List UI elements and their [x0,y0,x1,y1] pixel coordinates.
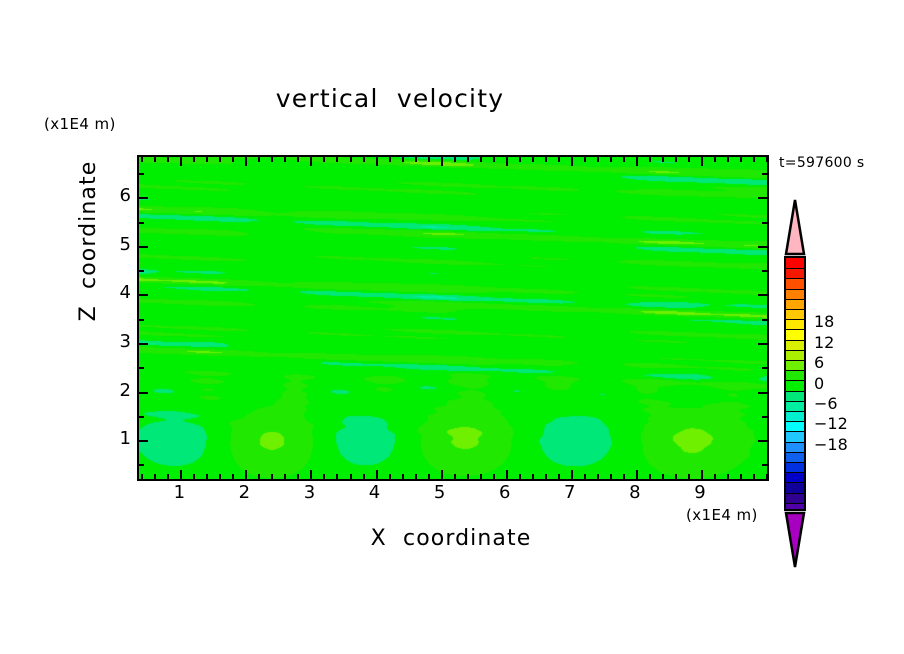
figure-canvas: vertical velocity (x1E4 m) (x1E4 m) X co… [0,0,904,654]
axis-tick [467,157,469,162]
x-tick-label: 2 [224,484,264,502]
x-axis-unit-label: (x1E4 m) [686,508,758,523]
axis-tick [441,157,443,166]
axis-tick [584,157,586,162]
axis-tick [649,157,651,162]
axis-tick [271,157,273,162]
axis-tick [139,246,148,248]
axis-tick [762,173,767,175]
axis-tick [519,157,521,162]
axis-tick [727,474,729,479]
axis-tick [310,470,312,479]
axis-tick [467,474,469,479]
x-tick-label: 1 [159,484,199,502]
y-tick-label: 5 [101,236,131,254]
axis-tick [753,474,755,479]
axis-tick [688,157,690,162]
y-axis-title: Z coordinate [78,136,100,346]
axis-tick [350,474,352,479]
axis-tick [493,474,495,479]
axis-tick [141,157,143,162]
axis-tick [363,157,365,162]
axis-tick [323,157,325,162]
axis-tick [762,367,767,369]
colorbar-tick-label: 0 [814,376,824,392]
axis-tick [758,343,767,345]
axis-tick [139,416,144,418]
y-tick-label: 6 [101,187,131,205]
axis-tick [675,474,677,479]
axis-tick [762,270,767,272]
page-title: vertical velocity [0,86,780,111]
axis-tick [323,474,325,479]
axis-tick [636,157,638,166]
x-tick-label: 7 [550,484,590,502]
axis-tick [245,157,247,166]
axis-tick [597,474,599,479]
axis-tick [336,157,338,162]
axis-tick [350,157,352,162]
axis-tick [389,474,391,479]
contour-plot-area [137,155,769,481]
x-tick-label: 6 [485,484,525,502]
axis-tick [558,157,560,162]
axis-tick [727,157,729,162]
axis-tick [610,157,612,162]
axis-tick [571,470,573,479]
axis-tick [532,474,534,479]
axis-tick [766,157,768,162]
colorbar-tick-label: 12 [814,335,834,351]
axis-tick [758,197,767,199]
colorbar-tick-label: 18 [814,314,834,330]
axis-tick [545,157,547,162]
axis-tick [376,470,378,479]
axis-tick [584,474,586,479]
colorbar: 181260−6−12−18 [784,198,806,518]
axis-tick [139,392,148,394]
axis-tick [139,270,144,272]
axis-tick [701,157,703,166]
axis-tick [758,246,767,248]
axis-tick [258,157,260,162]
axis-tick [141,474,143,479]
axis-tick [284,474,286,479]
axis-tick [297,474,299,479]
axis-tick [245,470,247,479]
axis-tick [740,474,742,479]
axis-tick [232,157,234,162]
y-tick-label: 3 [101,333,131,351]
axis-tick [714,474,716,479]
axis-tick [219,474,221,479]
y-tick-label: 4 [101,284,131,302]
axis-tick [336,474,338,479]
axis-tick [139,440,148,442]
axis-tick [532,157,534,162]
axis-tick [506,470,508,479]
axis-tick [232,474,234,479]
axis-tick [297,157,299,162]
axis-tick [610,474,612,479]
axis-tick [662,157,664,162]
axis-tick [454,474,456,479]
axis-tick [623,474,625,479]
colorbar-over-arrow [784,198,806,256]
axis-tick [180,157,182,166]
axis-tick [762,464,767,466]
axis-tick [441,470,443,479]
axis-tick [193,474,195,479]
y-tick-label: 1 [101,430,131,448]
axis-tick [649,474,651,479]
axis-tick [597,157,599,162]
x-tick-label: 3 [289,484,329,502]
x-tick-label: 8 [615,484,655,502]
axis-tick [762,416,767,418]
vertical-velocity-field [139,157,767,479]
axis-tick [506,157,508,166]
axis-tick [714,157,716,162]
axis-tick [310,157,312,166]
axis-tick [758,392,767,394]
colorbar-tick-label: 6 [814,355,824,371]
axis-tick [545,474,547,479]
axis-tick [154,157,156,162]
colorbar-under-arrow [784,511,806,569]
axis-tick [571,157,573,166]
axis-tick [139,294,148,296]
axis-tick [766,474,768,479]
axis-tick [758,294,767,296]
axis-tick [206,474,208,479]
timestamp-annotation: t=597600 s [779,156,864,170]
axis-tick [139,343,148,345]
x-tick-label: 4 [355,484,395,502]
axis-tick [193,157,195,162]
axis-tick [688,474,690,479]
axis-tick [415,157,417,162]
axis-tick [206,157,208,162]
axis-tick [428,157,430,162]
x-tick-label: 5 [420,484,460,502]
axis-tick [402,157,404,162]
axis-tick [219,157,221,162]
axis-tick [480,157,482,162]
axis-tick [139,367,144,369]
axis-tick [139,319,144,321]
y-tick-label: 2 [101,382,131,400]
axis-tick [758,440,767,442]
axis-tick [167,474,169,479]
axis-tick [167,157,169,162]
colorbar-tick-label: −18 [814,437,848,453]
axis-tick [139,464,144,466]
axis-tick [389,157,391,162]
axis-tick [493,157,495,162]
axis-tick [402,474,404,479]
axis-tick [154,474,156,479]
axis-tick [284,157,286,162]
axis-tick [662,474,664,479]
colorbar-tick-label: −6 [814,396,838,412]
axis-tick [480,474,482,479]
axis-tick [271,474,273,479]
axis-tick [519,474,521,479]
axis-tick [675,157,677,162]
colorbar-bands [784,256,806,511]
axis-tick [762,319,767,321]
axis-tick [258,474,260,479]
x-axis-title: X coordinate [137,528,765,550]
axis-tick [139,197,148,199]
axis-tick [636,470,638,479]
axis-tick [558,474,560,479]
axis-tick [623,157,625,162]
axis-tick [376,157,378,166]
axis-tick [454,157,456,162]
axis-tick [363,474,365,479]
axis-tick [139,222,144,224]
axis-tick [762,222,767,224]
axis-tick [753,157,755,162]
axis-tick [415,474,417,479]
axis-tick [428,474,430,479]
z-axis-unit-label: (x1E4 m) [44,117,116,132]
axis-tick [740,157,742,162]
colorbar-tick-label: −12 [814,416,848,432]
axis-tick [180,470,182,479]
x-tick-label: 9 [680,484,720,502]
axis-tick [139,173,144,175]
colorbar-band [786,503,804,511]
axis-tick [701,470,703,479]
